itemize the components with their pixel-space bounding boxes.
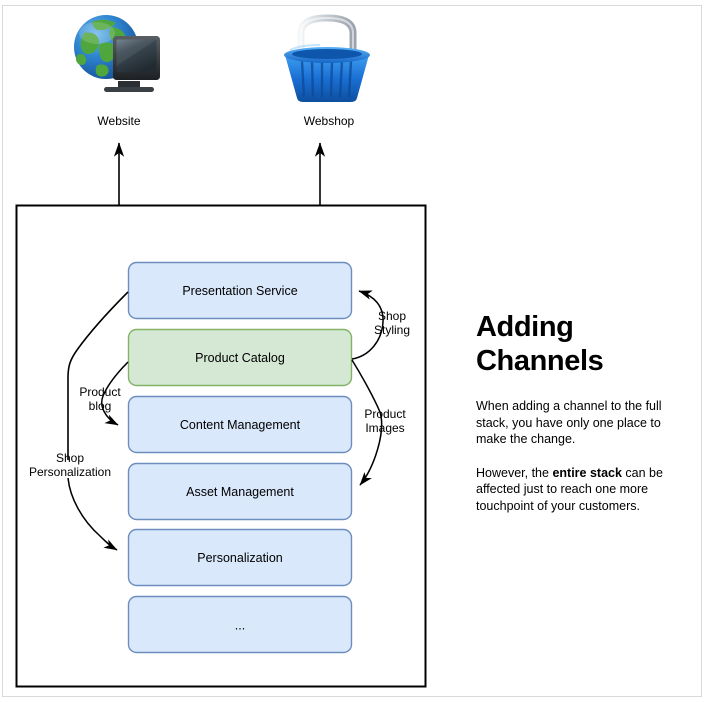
shopping-basket-icon <box>284 18 370 102</box>
stack-node-label: ... <box>235 618 245 632</box>
stack-node-ellipsis[interactable]: ... <box>129 597 352 653</box>
edge-label-shop-styling-line1: Shop <box>378 309 406 323</box>
edge-label-product-blog-line2: blog <box>89 399 112 413</box>
globe-monitor-icon <box>74 15 160 92</box>
diagram-page: Website Webshop <box>0 0 714 702</box>
edge-label-shop-styling-line2: Styling <box>374 323 410 337</box>
channel-label-website: Website <box>97 114 140 128</box>
stack-node-product-catalog[interactable]: Product Catalog <box>129 330 352 386</box>
stack-node-presentation-service[interactable]: Presentation Service <box>129 263 352 319</box>
stack-node-label: Presentation Service <box>182 284 297 298</box>
stack-node-label: Asset Management <box>186 485 294 499</box>
edge-label-product-blog-line1: Product <box>79 385 121 399</box>
stack-node-label: Content Management <box>180 418 301 432</box>
panel-paragraph-one: When adding a channel to the full stack,… <box>476 398 682 448</box>
page-title: Adding Channels <box>476 310 682 378</box>
edge-label-shop-personalization-line1: Shop <box>56 451 84 465</box>
stack-node-asset-management[interactable]: Asset Management <box>129 464 352 520</box>
stack-node-personalization[interactable]: Personalization <box>129 530 352 586</box>
edge-label-product-images-line1: Product <box>364 407 406 421</box>
stack-node-label: Personalization <box>197 551 283 565</box>
panel-paragraph-two: However, the entire stack can be affecte… <box>476 465 682 515</box>
stack-node-content-management[interactable]: Content Management <box>129 397 352 453</box>
stack-node-label: Product Catalog <box>195 351 285 365</box>
edge-label-shop-personalization-line2: Personalization <box>29 465 111 479</box>
channel-label-webshop: Webshop <box>304 114 355 128</box>
panel-paragraph-two-emphasis: entire stack <box>552 466 621 480</box>
text-panel: Adding Channels When adding a channel to… <box>476 310 682 514</box>
panel-paragraph-two-prefix: However, the <box>476 466 552 480</box>
edge-label-product-images-line2: Images <box>365 421 404 435</box>
